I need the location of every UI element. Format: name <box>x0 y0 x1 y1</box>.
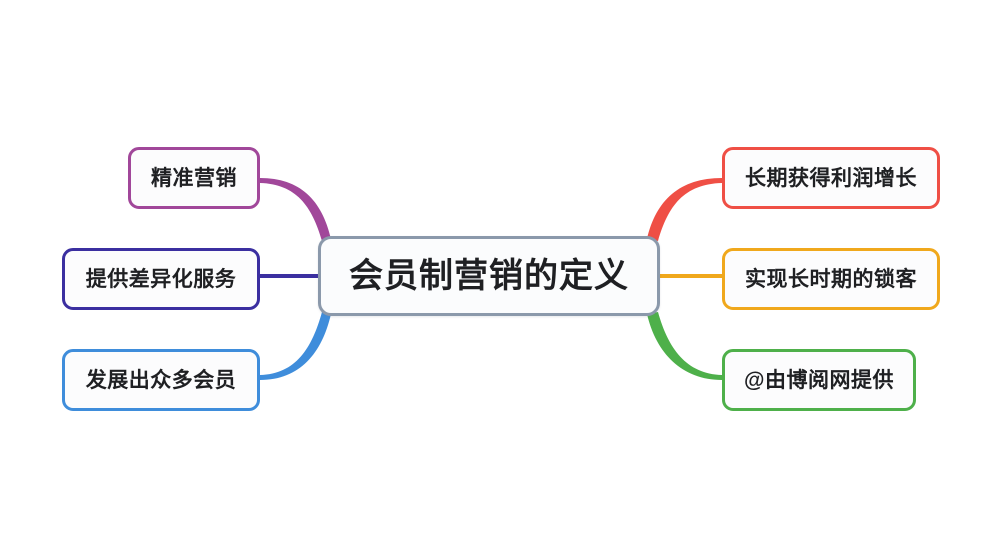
branch-node-profit-label: 长期获得利润增长 <box>745 168 917 189</box>
central-node-label: 会员制营销的定义 <box>349 259 629 293</box>
connector-credit <box>647 312 722 380</box>
branch-node-precision[interactable]: 精准营销 <box>128 147 260 209</box>
mindmap-canvas: 会员制营销的定义 精准营销 提供差异化服务 发展出众多会员 长期获得利润增长 实… <box>0 0 1000 556</box>
connector-members <box>260 312 331 380</box>
branch-node-credit-label: @由博阅网提供 <box>744 370 894 391</box>
central-node[interactable]: 会员制营销的定义 <box>318 236 660 316</box>
branch-node-service-label: 提供差异化服务 <box>86 269 237 290</box>
branch-node-precision-label: 精准营销 <box>151 168 237 189</box>
branch-node-lockin[interactable]: 实现长时期的锁客 <box>722 248 940 310</box>
branch-node-credit[interactable]: @由博阅网提供 <box>722 349 916 411</box>
branch-node-service[interactable]: 提供差异化服务 <box>62 248 260 310</box>
connector-profit <box>647 178 722 241</box>
connector-precision <box>260 178 331 241</box>
branch-node-members-label: 发展出众多会员 <box>86 370 237 391</box>
branch-node-members[interactable]: 发展出众多会员 <box>62 349 260 411</box>
branch-node-profit[interactable]: 长期获得利润增长 <box>722 147 940 209</box>
branch-node-lockin-label: 实现长时期的锁客 <box>745 269 917 290</box>
